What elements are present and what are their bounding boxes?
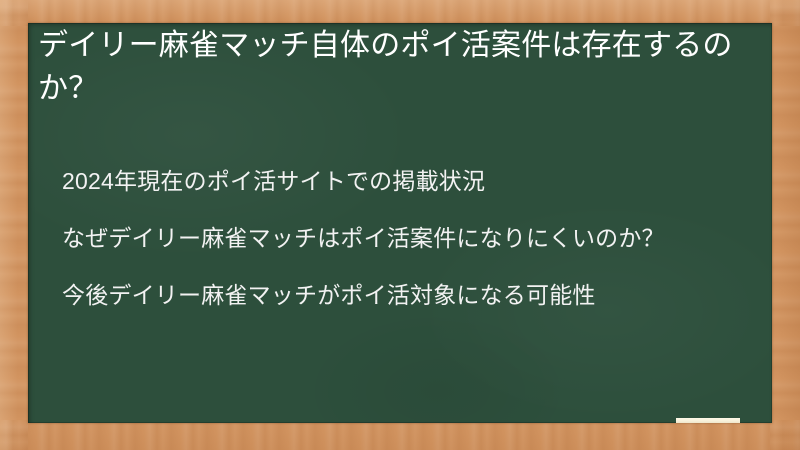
- chalkboard-content: デイリー麻雀マッチ自体のポイ活案件は存在するのか？ 2024年現在のポイ活サイト…: [28, 23, 772, 423]
- wood-grain-left: [0, 0, 28, 450]
- wood-grain-bottom: [0, 420, 800, 450]
- list-item: 2024年現在のポイ活サイトでの掲載状況: [62, 161, 752, 201]
- chalkboard-panel: デイリー麻雀マッチ自体のポイ活案件は存在するのか？ 2024年現在のポイ活サイト…: [28, 23, 772, 423]
- page-title: デイリー麻雀マッチ自体のポイ活案件は存在するのか？: [38, 24, 748, 110]
- wood-grain-right: [770, 0, 800, 450]
- chalk-stick-icon: [676, 418, 740, 423]
- list-item: なぜデイリー麻雀マッチはポイ活案件になりにくいのか？: [62, 218, 752, 258]
- blackboard-wooden-frame: デイリー麻雀マッチ自体のポイ活案件は存在するのか？ 2024年現在のポイ活サイト…: [0, 0, 800, 450]
- outline-list: 2024年現在のポイ活サイトでの掲載状況 なぜデイリー麻雀マッチはポイ活案件にな…: [62, 161, 752, 315]
- list-item: 今後デイリー麻雀マッチがポイ活対象になる可能性: [62, 275, 752, 315]
